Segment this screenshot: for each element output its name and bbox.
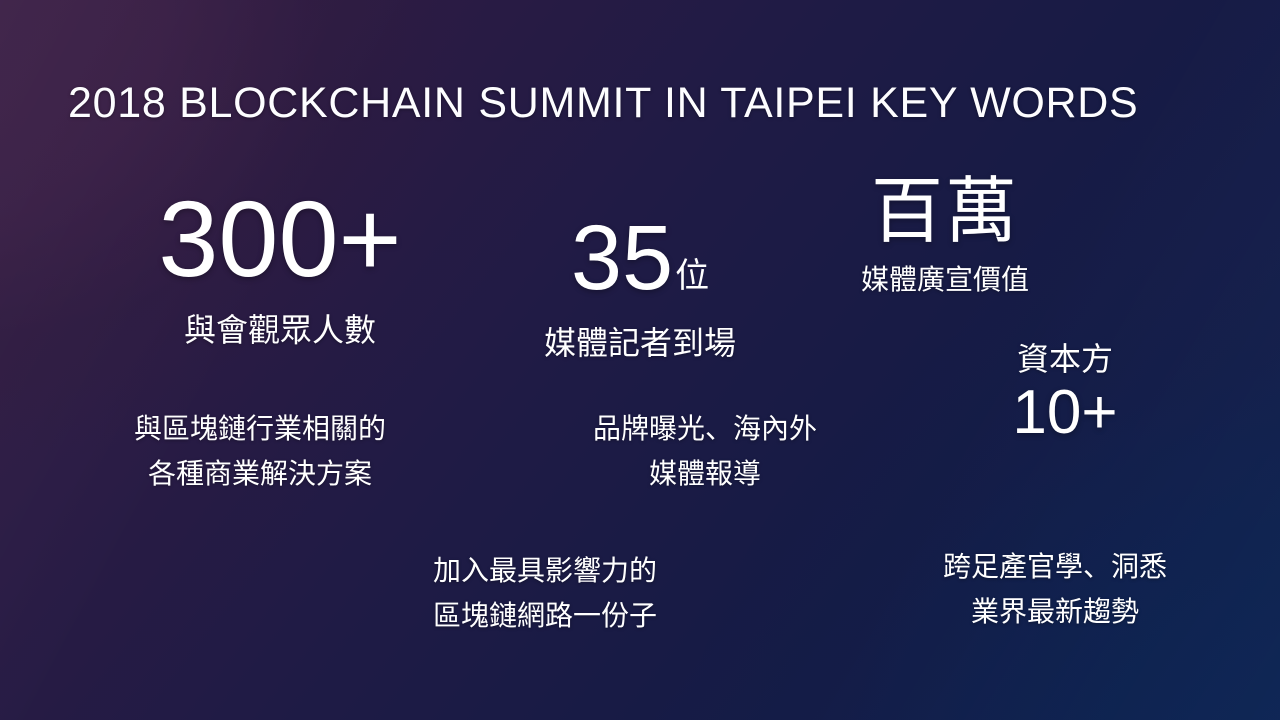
description-network: 加入最具影響力的 區塊鏈網路一份子 bbox=[360, 548, 730, 639]
description-solutions: 與區塊鏈行業相關的 各種商業解決方案 bbox=[45, 406, 475, 497]
stat-number-investors: 10+ bbox=[900, 382, 1230, 444]
description-line: 加入最具影響力的 bbox=[360, 548, 730, 593]
page-title: 2018 BLOCKCHAIN SUMMIT IN TAIPEI KEY WOR… bbox=[68, 79, 1138, 128]
stat-number-media-value: 百萬 bbox=[770, 176, 1120, 248]
description-line: 品牌曝光、海內外 bbox=[500, 406, 910, 451]
description-industry: 跨足產官學、洞悉 業界最新趨勢 bbox=[870, 544, 1240, 635]
stat-caption-reporters: 媒體記者到場 bbox=[430, 318, 850, 364]
stat-unit-reporters: 位 bbox=[673, 248, 709, 304]
description-exposure: 品牌曝光、海內外 媒體報導 bbox=[500, 406, 910, 497]
stat-caption-investors: 資本方 bbox=[900, 334, 1230, 380]
stat-block-investors: 資本方 10+ bbox=[900, 334, 1230, 444]
description-line: 與區塊鏈行業相關的 bbox=[45, 406, 475, 451]
description-line: 媒體報導 bbox=[500, 451, 910, 496]
description-line: 各種商業解決方案 bbox=[45, 451, 475, 496]
description-line: 跨足產官學、洞悉 bbox=[870, 544, 1240, 589]
stat-number-reporters: 35 bbox=[571, 212, 673, 304]
description-line: 區塊鏈網路一份子 bbox=[360, 593, 730, 638]
stat-number-row-reporters: 35 位 bbox=[571, 212, 709, 304]
description-line: 業界最新趨勢 bbox=[870, 589, 1240, 634]
stat-caption-media-value: 媒體廣宣價值 bbox=[770, 258, 1120, 298]
presentation-slide: 2018 BLOCKCHAIN SUMMIT IN TAIPEI KEY WOR… bbox=[0, 0, 1280, 720]
stat-block-media-value: 百萬 媒體廣宣價值 bbox=[770, 176, 1120, 298]
